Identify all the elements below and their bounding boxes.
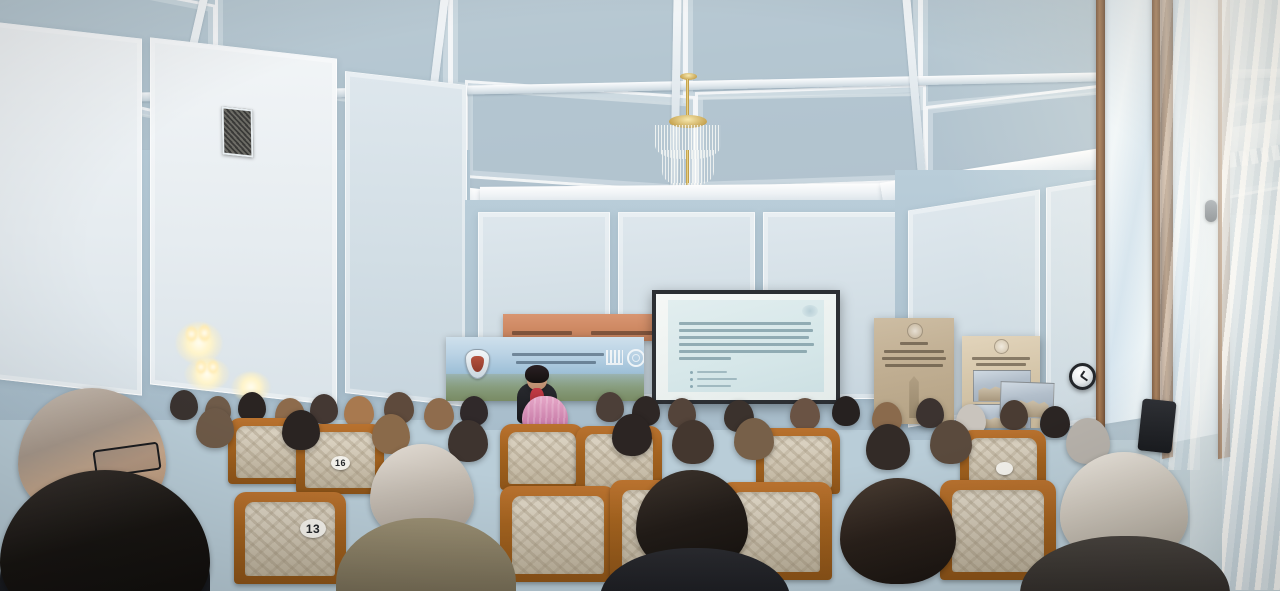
person-with-phone (1137, 398, 1176, 453)
wall-panel (0, 21, 142, 395)
chair-upholstery (512, 496, 604, 574)
chair-upholstery (952, 490, 1044, 572)
banner-text-line (516, 361, 596, 364)
audience-head (734, 418, 774, 460)
ventilation-grille-icon (222, 106, 254, 157)
audience-head (1040, 406, 1070, 438)
wall-sconce-center-left (185, 358, 229, 390)
chair-upholstery (508, 432, 576, 484)
presentation-slide (668, 300, 824, 392)
clock-minute-hand (1081, 375, 1088, 381)
audience-head (170, 390, 198, 420)
audience-head (612, 414, 652, 456)
slide-bullet-dot (690, 378, 693, 381)
wall-sconce-center-lamp (196, 360, 206, 374)
audience-head (866, 424, 910, 470)
conference-hall-photo: 16 13 (0, 0, 1280, 591)
chair-upholstery (245, 502, 335, 576)
audience-head (282, 410, 320, 450)
wall-sconce-left-lamp (186, 326, 197, 342)
wall-clock (1069, 363, 1096, 390)
head (840, 478, 956, 584)
audience-head (1000, 400, 1028, 430)
slide-text-line (679, 350, 807, 353)
window-frame (1096, 0, 1105, 441)
poster-crest-icon (994, 339, 1009, 354)
poster-text-line (976, 363, 1026, 366)
chair-number-badge (996, 462, 1013, 475)
audience-head (832, 396, 860, 426)
chair-upholstery (764, 436, 832, 488)
slide-bullet-dot (690, 385, 693, 388)
banner-text-line (512, 353, 604, 356)
slide-bullet-line (697, 378, 737, 380)
presenter-hair (525, 365, 549, 383)
poster-text-line (885, 364, 943, 367)
audience-head (672, 420, 714, 464)
banner-orange-text-line (512, 331, 572, 335)
coat-of-arms-shield (471, 356, 484, 372)
poster-text-line (972, 357, 1030, 360)
poster-text-line (884, 350, 944, 353)
window-handle (1205, 200, 1217, 222)
audience-head (930, 420, 972, 464)
window-glass (1100, 0, 1160, 425)
slide-bullet-dot (690, 371, 693, 374)
shoulders (336, 518, 516, 591)
audience-head (196, 408, 234, 448)
audience-head (790, 398, 820, 430)
window-light-wash (1190, 0, 1280, 560)
partner-logo-icon (627, 349, 644, 367)
poster-text-line (882, 357, 946, 360)
chair-number-badge: 16 (331, 456, 350, 470)
poster-title-line (900, 342, 928, 345)
poster-crest-icon (907, 323, 923, 339)
slide-text-line (679, 322, 811, 325)
slide-text-line (679, 343, 814, 346)
slide-text-line (679, 329, 813, 332)
wall-sconce-left-lamp (199, 324, 210, 342)
slide-bullet-line (697, 371, 727, 373)
ceiling-coffer-panel (695, 84, 926, 190)
chair-number-badge: 13 (300, 519, 326, 538)
audience-head (424, 398, 454, 430)
wall-sconce-center-lamp (208, 360, 218, 374)
slide-text-line (679, 357, 731, 360)
chandelier-rod (686, 79, 689, 119)
slide-logo-icon (802, 305, 818, 317)
banner-orange-text-line (591, 331, 653, 335)
slide-text-line (679, 336, 809, 339)
unesco-logo-icon (606, 350, 623, 365)
slide-bullet-line (697, 385, 731, 387)
